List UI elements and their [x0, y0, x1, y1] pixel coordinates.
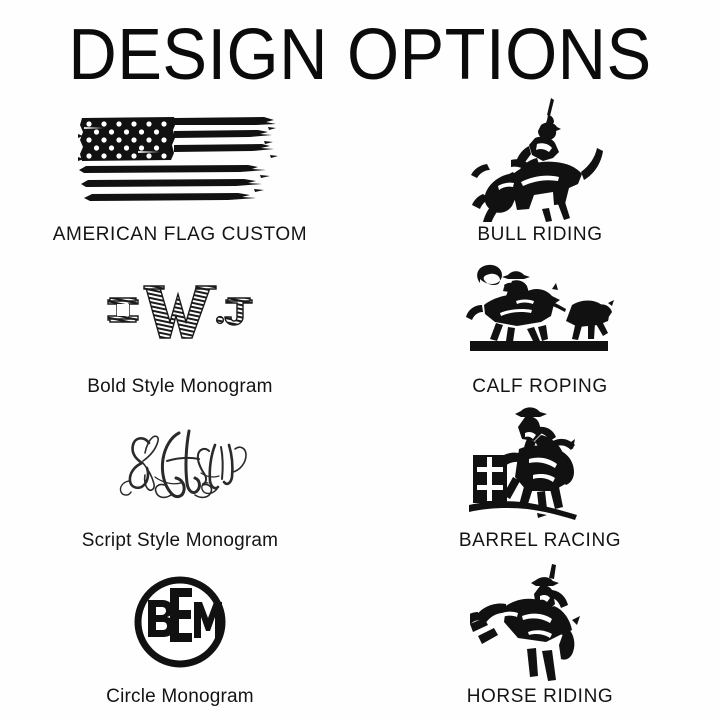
design-option-bold-style-monogram[interactable]: Bold Style Monogram — [0, 258, 360, 412]
design-option-label: Bold Style Monogram — [87, 376, 272, 398]
distressed-american-flag-icon — [78, 104, 282, 216]
barrel-racing-silhouette-icon — [467, 412, 613, 518]
design-option-label: AMERICAN FLAG CUSTOM — [53, 224, 307, 246]
design-option-bronc-riding-silhouette[interactable]: HORSE RIDING — [360, 566, 720, 720]
design-option-bull-riding[interactable]: BULL RIDING — [360, 104, 720, 258]
design-options-board: DESIGN OPTIONS — [0, 0, 720, 720]
page-title: DESIGN OPTIONS — [25, 14, 695, 96]
calf-roping-silhouette-icon — [460, 258, 620, 362]
design-options-grid: AMERICAN FLAG CUSTOM — [0, 104, 720, 720]
bold-monogram-icon — [100, 258, 260, 362]
design-option-label: BULL RIDING — [477, 224, 602, 246]
script-monogram-icon — [105, 412, 255, 518]
design-option-calf-roping[interactable]: CALF ROPING — [360, 258, 720, 412]
design-option-barrel-racing[interactable]: BARREL RACING — [360, 412, 720, 566]
design-option-label: Script Style Monogram — [82, 530, 278, 552]
circle-monogram-icon — [132, 566, 228, 678]
design-option-label: HORSE RIDING — [467, 686, 614, 708]
bull-riding-silhouette-icon — [465, 104, 615, 216]
design-option-label: CALF ROPING — [472, 376, 607, 398]
design-option-american-flag-custom[interactable]: AMERICAN FLAG CUSTOM — [0, 104, 360, 258]
design-option-label: BARREL RACING — [459, 530, 621, 552]
design-option-circle-monogram[interactable]: Circle Monogram — [0, 566, 360, 720]
bronc-riding-silhouette-icon — [470, 566, 610, 678]
design-option-label: Circle Monogram — [106, 686, 254, 708]
design-option-script-style-monogram[interactable]: Script Style Monogram — [0, 412, 360, 566]
